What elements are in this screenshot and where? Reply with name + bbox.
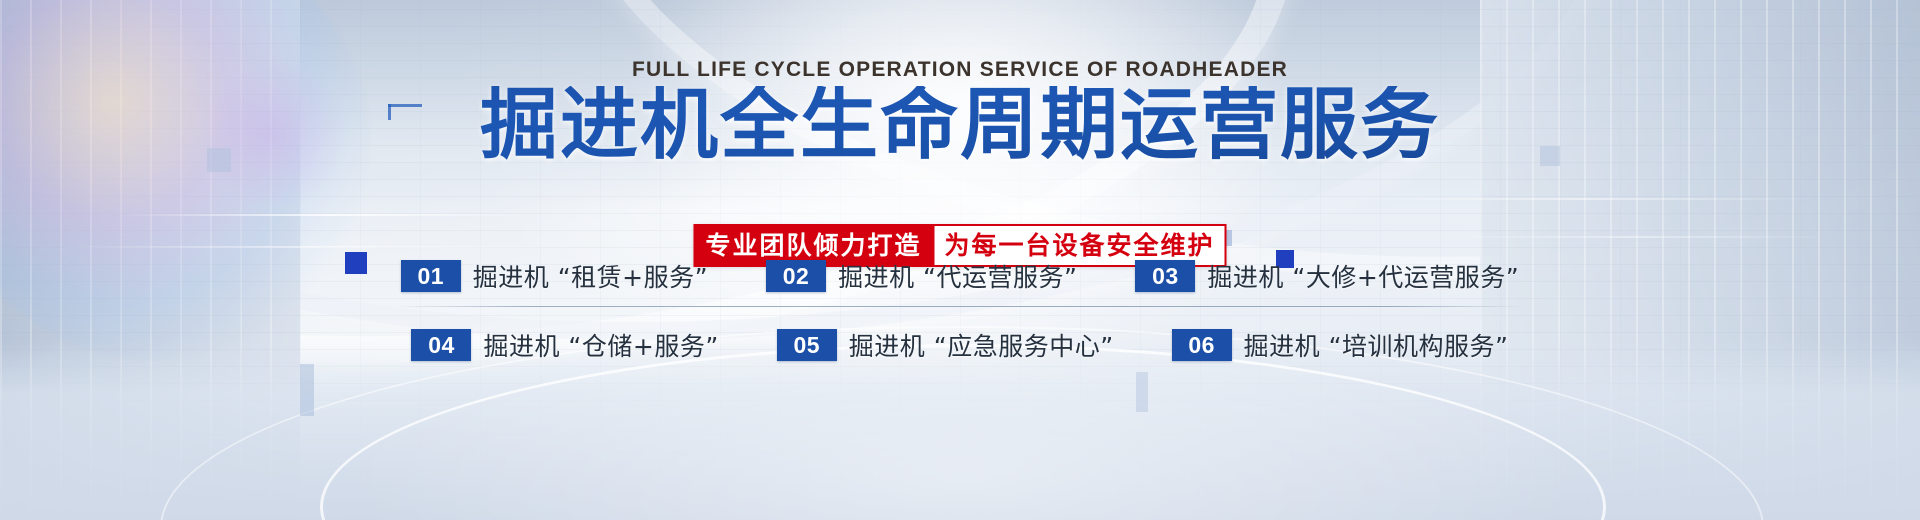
banner-headline: 掘进机全生命周期运营服务 <box>0 86 1920 164</box>
service-item[interactable]: 06 掘进机 “培训机构服务” <box>1172 327 1509 363</box>
service-label: 掘进机 “租赁+服务” <box>473 258 708 294</box>
service-number-badge: 06 <box>1172 329 1232 361</box>
service-label: 掘进机 “代运营服务” <box>838 258 1077 294</box>
service-item[interactable]: 04 掘进机 “仓储+服务” <box>411 327 718 363</box>
banner-content: FULL LIFE CYCLE OPERATION SERVICE OF ROA… <box>0 0 1920 520</box>
service-number-badge: 03 <box>1135 260 1195 292</box>
service-item[interactable]: 02 掘进机 “代运营服务” <box>766 258 1077 294</box>
service-label: 掘进机 “应急服务中心” <box>849 327 1114 363</box>
service-number-badge: 01 <box>401 260 461 292</box>
service-item[interactable]: 01 掘进机 “租赁+服务” <box>401 258 708 294</box>
service-row-bottom: 04 掘进机 “仓储+服务” 05 掘进机 “应急服务中心” 06 掘进机 “培… <box>0 317 1920 373</box>
service-label: 掘进机 “大修+代运营服务” <box>1207 258 1519 294</box>
banner-eyebrow-text: FULL LIFE CYCLE OPERATION SERVICE OF ROA… <box>0 58 1920 82</box>
service-number-badge: 04 <box>411 329 471 361</box>
service-item[interactable]: 03 掘进机 “大修+代运营服务” <box>1135 258 1519 294</box>
service-number-badge: 02 <box>766 260 826 292</box>
service-item[interactable]: 05 掘进机 “应急服务中心” <box>777 327 1114 363</box>
service-label: 掘进机 “仓储+服务” <box>483 327 718 363</box>
service-row-top: 01 掘进机 “租赁+服务” 02 掘进机 “代运营服务” 03 掘进机 “大修… <box>0 248 1920 304</box>
service-label: 掘进机 “培训机构服务” <box>1244 327 1509 363</box>
service-list: 01 掘进机 “租赁+服务” 02 掘进机 “代运营服务” 03 掘进机 “大修… <box>0 248 1920 373</box>
hero-banner: FULL LIFE CYCLE OPERATION SERVICE OF ROA… <box>0 0 1920 520</box>
service-list-divider <box>394 306 1526 307</box>
service-number-badge: 05 <box>777 329 837 361</box>
